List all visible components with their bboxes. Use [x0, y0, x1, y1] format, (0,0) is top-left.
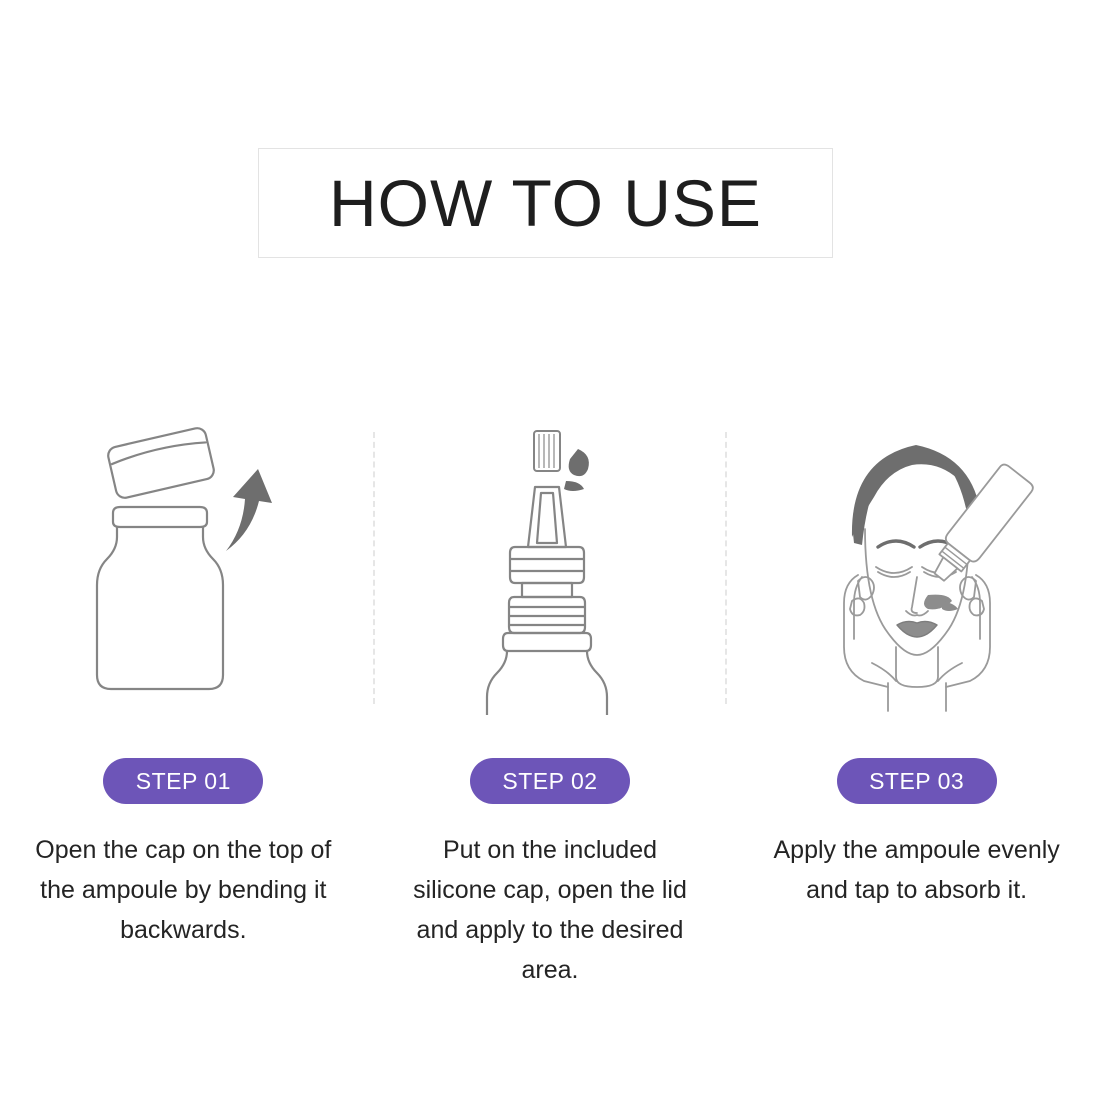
ampoule-bottle-tilted-icon — [923, 462, 1035, 589]
step-badge-3: STEP 03 — [837, 758, 997, 804]
steps-row: STEP 01 Open the cap on the top of the a… — [0, 415, 1100, 990]
step-1-illustration — [0, 415, 367, 715]
step-3-illustration — [733, 415, 1100, 715]
ampoule-bottle-cap-open-icon — [83, 425, 283, 715]
droplet-marks-icon — [564, 449, 589, 491]
woman-face-applying-ampoule-icon — [792, 425, 1042, 715]
step-caption-2: Put on the included silicone cap, open t… — [400, 830, 700, 990]
step-badge-2: STEP 02 — [470, 758, 630, 804]
page-title-box: HOW TO USE — [258, 148, 833, 258]
step-column-2: STEP 02 Put on the included silicone cap… — [367, 415, 734, 990]
ribbed-lid-icon — [534, 431, 560, 471]
step-badge-1: STEP 01 — [103, 758, 263, 804]
step-caption-1: Open the cap on the top of the ampoule b… — [33, 830, 333, 950]
step-2-illustration — [367, 415, 734, 715]
page-title: HOW TO USE — [329, 170, 762, 236]
ampoule-bottle-silicone-nozzle-icon — [460, 425, 640, 715]
step-column-3: STEP 03 Apply the ampoule evenly and tap… — [733, 415, 1100, 990]
step-caption-3: Apply the ampoule evenly and tap to abso… — [767, 830, 1067, 910]
step-column-1: STEP 01 Open the cap on the top of the a… — [0, 415, 367, 990]
curved-arrow-icon — [226, 469, 272, 551]
